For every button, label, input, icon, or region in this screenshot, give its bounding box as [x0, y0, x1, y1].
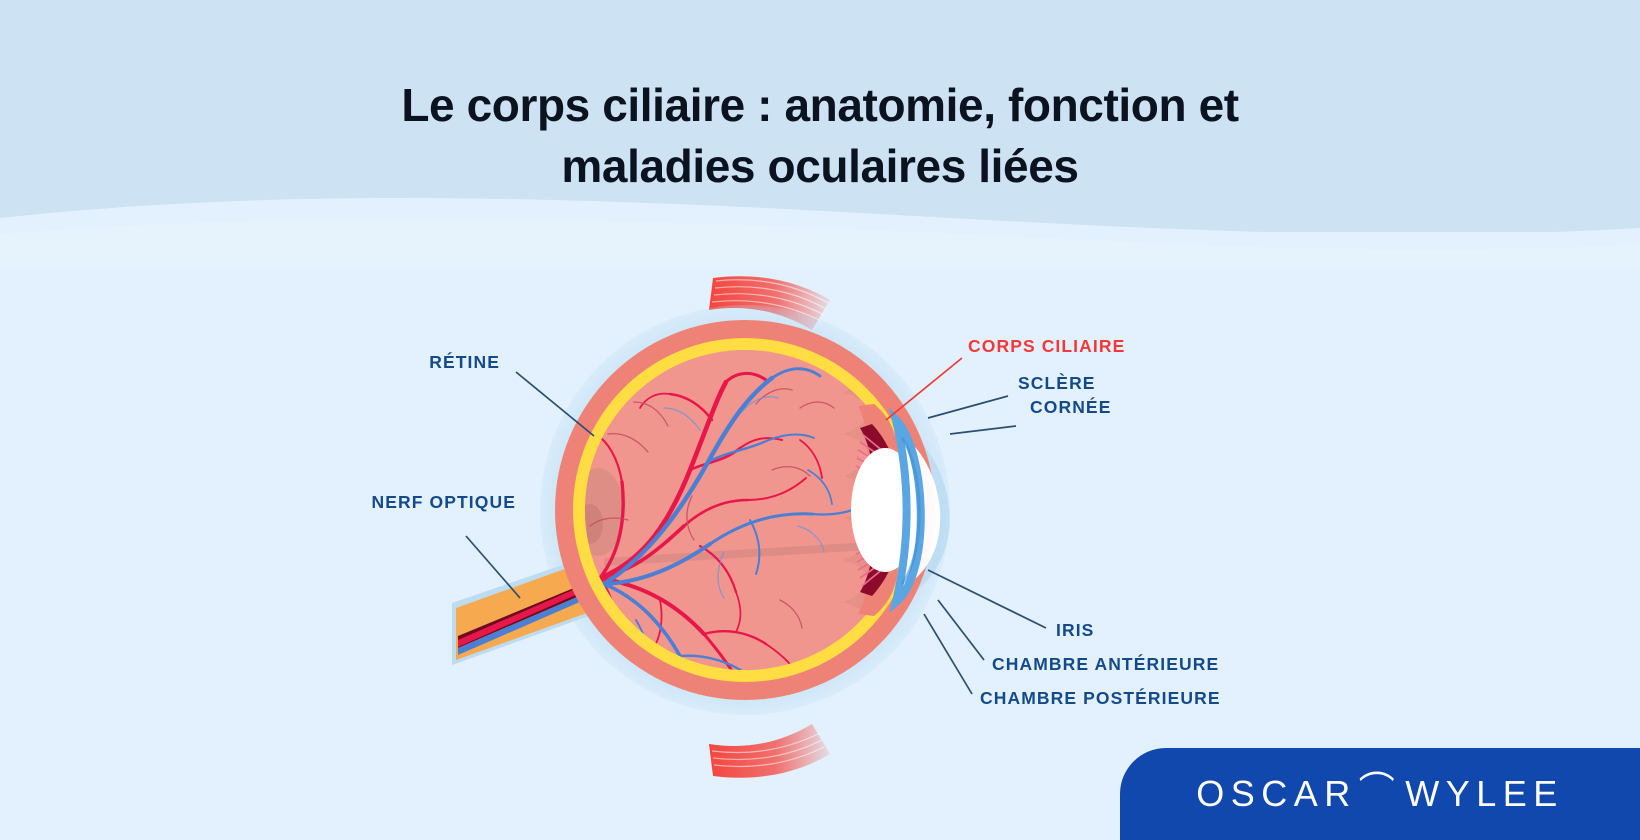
label-corps-ciliaire: CORPS CILIAIRE [968, 336, 1125, 357]
label-chambre-anterieure: CHAMBRE ANTÉRIEURE [992, 654, 1219, 675]
leader-line-chambre-posterieure [924, 614, 972, 694]
label-retine: RÉTINE [300, 352, 500, 373]
label-iris: IRIS [1056, 620, 1094, 641]
logo-brand-left: OSCAR [1196, 773, 1357, 815]
leader-line-nerf-optique [466, 536, 520, 598]
label-cornee: CORNÉE [1030, 397, 1111, 418]
label-sclere: SCLÈRE [1018, 373, 1096, 394]
leader-line-cornee [950, 426, 1016, 434]
logo-arc-icon: ⌒ [1359, 761, 1402, 813]
logo-brand-right: WYLEE [1405, 773, 1564, 815]
label-nerf-optique: NERF OPTIQUE [260, 492, 516, 513]
leader-line-chambre-anterieure [938, 600, 984, 660]
eye-diagram [0, 0, 1640, 840]
logo-wordmark: OSCAR ⌒ WYLEE [1196, 768, 1564, 820]
oscar-wylee-logo[interactable]: OSCAR ⌒ WYLEE [1120, 748, 1640, 840]
page-root: Le corps ciliaire : anatomie, fonction e… [0, 0, 1640, 840]
leader-line-iris [928, 570, 1046, 628]
leader-line-sclere [928, 396, 1008, 418]
extraocular-muscle-inferior [709, 724, 830, 778]
label-chambre-posterieure: CHAMBRE POSTÉRIEURE [980, 688, 1221, 709]
